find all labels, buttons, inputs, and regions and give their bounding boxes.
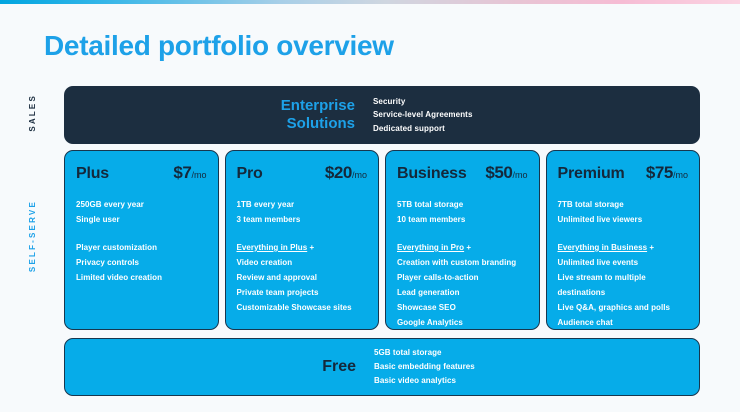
rail-label-self-serve: SELF-SERVE [28, 200, 37, 272]
plan-feature-item: Video creation [237, 255, 368, 270]
page-title: Detailed portfolio overview [44, 30, 394, 62]
plan-card-pro[interactable]: Pro$20/mo1TB every year3 team membersEve… [225, 150, 380, 330]
plan-price-block: $50/mo [485, 163, 527, 183]
enterprise-feature-item: Service-level Agreements [373, 108, 700, 122]
plan-feature-item: Unlimited live events [558, 255, 689, 270]
plan-spec-item: 7TB total storage [558, 197, 689, 212]
plan-feature-list: Everything in Pro +Creation with custom … [397, 240, 528, 330]
plan-spec-item: 3 team members [237, 212, 368, 227]
plan-price-block: $7/mo [173, 163, 206, 183]
plan-spec-list: 250GB every yearSingle user [76, 197, 207, 227]
plan-feature-item: Live Q&A, graphics and polls [558, 300, 689, 315]
plan-spec-item: 250GB every year [76, 197, 207, 212]
plan-feature-item: Showcase SEO [397, 300, 528, 315]
plan-price-period: /mo [191, 170, 206, 180]
plan-name: Pro [237, 165, 263, 183]
enterprise-feature-item: Security [373, 95, 700, 109]
free-feature-item: Basic embedding features [374, 360, 699, 374]
plan-name: Plus [76, 165, 109, 183]
enterprise-title: Enterprise Solutions [64, 97, 369, 133]
plan-spec-item: Single user [76, 212, 207, 227]
plan-feature-item: Creation with custom branding [397, 255, 528, 270]
plan-spec-list: 1TB every year3 team members [237, 197, 368, 227]
enterprise-feature-item: Dedicated support [373, 122, 700, 136]
plan-feature-list: Player customizationPrivacy controlsLimi… [76, 240, 207, 285]
plan-spec-item: 5TB total storage [397, 197, 528, 212]
plan-feature-item: Player calls-to-action [397, 270, 528, 285]
plan-feature-list: Everything in Plus +Video creationReview… [237, 240, 368, 315]
plan-price-block: $75/mo [646, 163, 688, 183]
plan-header: Plus$7/mo [76, 163, 207, 183]
plan-feature-item: Audience chat [558, 315, 689, 330]
plan-header: Premium$75/mo [558, 163, 689, 183]
plan-price: $50 [485, 163, 512, 182]
plan-feature-item: Google Analytics [397, 315, 528, 330]
plan-card-business[interactable]: Business$50/mo5TB total storage10 team m… [385, 150, 540, 330]
plan-feature-item: Privacy controls [76, 255, 207, 270]
top-gradient-bar [0, 0, 740, 4]
plan-price-period: /mo [352, 170, 367, 180]
plan-feature-item: Player customization [76, 240, 207, 255]
plan-price-period: /mo [512, 170, 527, 180]
plan-spec-item: 1TB every year [237, 197, 368, 212]
plan-cards-row: Plus$7/mo250GB every yearSingle userPlay… [64, 150, 700, 330]
free-plan-title: Free [65, 358, 370, 376]
plan-feature-item: Lead generation [397, 285, 528, 300]
plan-feature-item: Private team projects [237, 285, 368, 300]
plan-inherits-row: Everything in Pro + [397, 240, 528, 255]
plan-price: $75 [646, 163, 673, 182]
enterprise-feature-list: SecurityService-level AgreementsDedicate… [369, 95, 700, 136]
enterprise-title-line1: Enterprise [281, 97, 355, 114]
enterprise-title-line2: Solutions [287, 115, 355, 132]
free-feature-item: 5GB total storage [374, 346, 699, 360]
plan-header: Pro$20/mo [237, 163, 368, 183]
plan-feature-item: Live stream to multiple destinations [558, 270, 689, 300]
plan-spec-item: 10 team members [397, 212, 528, 227]
plan-header: Business$50/mo [397, 163, 528, 183]
plan-inherits-link[interactable]: Everything in Business [558, 243, 648, 252]
plan-inherits-row: Everything in Business + [558, 240, 689, 255]
plan-feature-item: Customizable Showcase sites [237, 300, 368, 315]
plan-card-plus[interactable]: Plus$7/mo250GB every yearSingle userPlay… [64, 150, 219, 330]
plan-feature-item: Review and approval [237, 270, 368, 285]
rail-label-sales: SALES [28, 94, 37, 132]
plan-inherits-link[interactable]: Everything in Pro [397, 243, 464, 252]
free-feature-item: Basic video analytics [374, 374, 699, 388]
plan-inherits-link[interactable]: Everything in Plus [237, 243, 308, 252]
plan-card-premium[interactable]: Premium$75/mo7TB total storageUnlimited … [546, 150, 701, 330]
plan-spec-list: 7TB total storageUnlimited live viewers [558, 197, 689, 227]
free-plan-bar[interactable]: Free 5GB total storageBasic embedding fe… [64, 338, 700, 396]
plan-price-period: /mo [673, 170, 688, 180]
plan-name: Business [397, 165, 467, 183]
plan-name: Premium [558, 165, 625, 183]
plan-price-block: $20/mo [325, 163, 367, 183]
plan-feature-item: Limited video creation [76, 270, 207, 285]
plan-price: $7 [173, 163, 191, 182]
plan-spec-item: Unlimited live viewers [558, 212, 689, 227]
free-feature-list: 5GB total storageBasic embedding feature… [370, 346, 699, 388]
plan-feature-list: Everything in Business +Unlimited live e… [558, 240, 689, 330]
plan-inherits-row: Everything in Plus + [237, 240, 368, 255]
plan-price: $20 [325, 163, 352, 182]
plan-spec-list: 5TB total storage10 team members [397, 197, 528, 227]
enterprise-solutions-banner[interactable]: Enterprise Solutions SecurityService-lev… [64, 86, 700, 144]
